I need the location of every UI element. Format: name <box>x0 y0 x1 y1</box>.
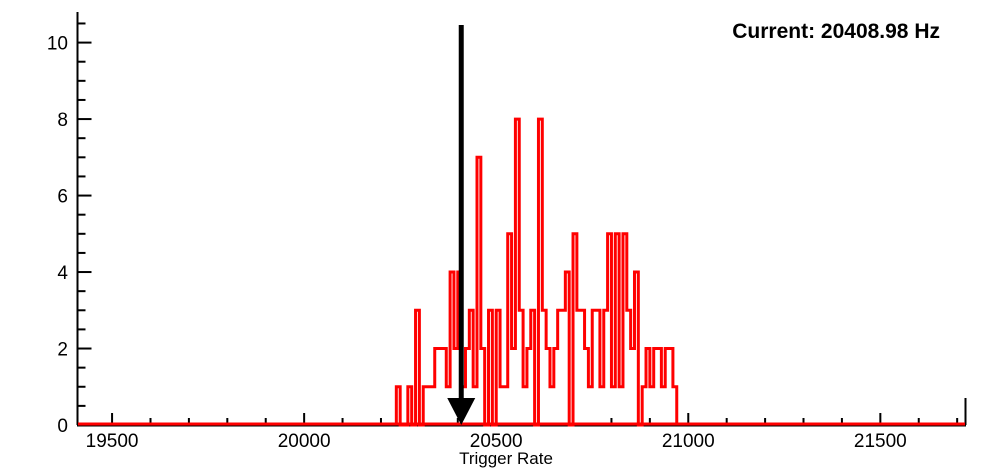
histogram-trace <box>396 119 676 425</box>
y-tick-label: 0 <box>57 416 68 437</box>
y-tick-label: 6 <box>57 187 68 208</box>
x-tick-label: 21500 <box>854 431 907 452</box>
y-tick-label: 4 <box>57 263 68 284</box>
x-tick-label: 19500 <box>86 431 139 452</box>
y-tick-label: 10 <box>47 34 68 55</box>
current-rate-label: Current: 20408.98 Hz <box>732 20 940 43</box>
y-tick-label: 8 <box>57 110 68 131</box>
y-axis-tick-labels: 0246810 <box>47 34 69 437</box>
y-tick-label: 2 <box>57 340 68 361</box>
root-histogram-canvas: 1950020000205002100021500 0246810 Trigge… <box>0 0 996 472</box>
x-tick-label: 20000 <box>278 431 331 452</box>
x-axis-title: Trigger Rate <box>459 449 553 468</box>
axis-frame <box>77 12 966 426</box>
x-tick-label: 21000 <box>662 431 715 452</box>
arrow-head-icon <box>447 398 475 425</box>
histogram-plot: 1950020000205002100021500 0246810 Trigge… <box>0 0 996 472</box>
y-axis-ticks <box>78 23 92 425</box>
